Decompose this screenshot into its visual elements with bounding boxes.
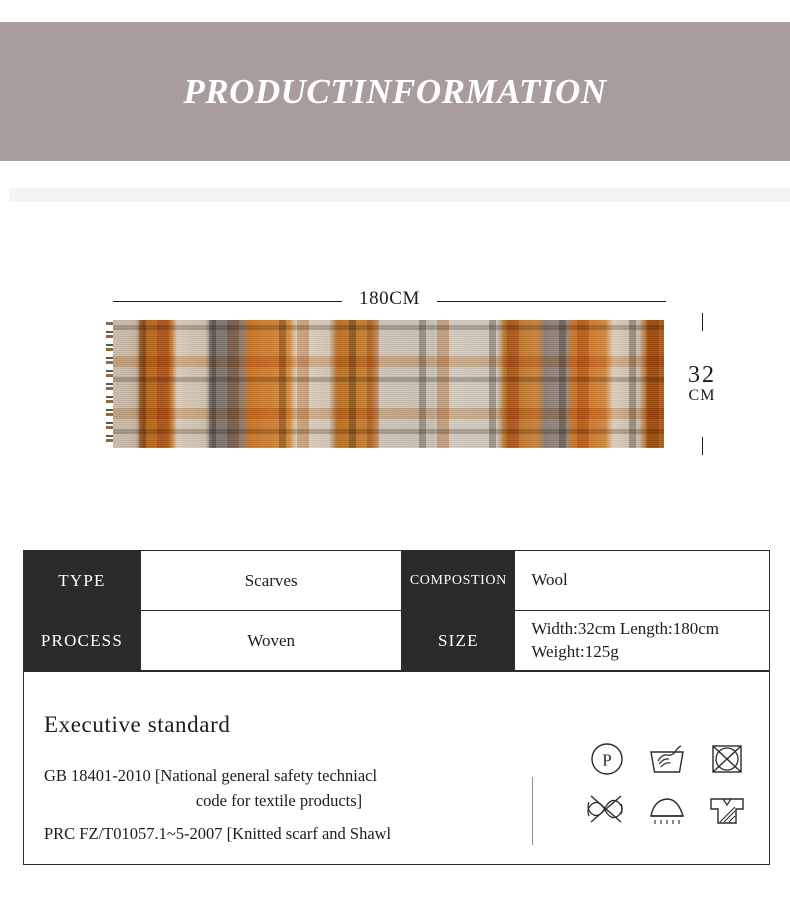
executive-standard-title: Executive standard <box>44 712 230 738</box>
height-tick-top <box>702 313 703 331</box>
width-line-right <box>437 301 666 302</box>
standard-prc-text: PRC FZ/T01057.1~5-2007 [Knitted scarf an… <box>44 824 534 844</box>
height-unit: CM <box>689 388 716 405</box>
cell-process-value: Woven <box>140 611 401 671</box>
size-dimensions-text: Width:32cm Length:180cm <box>531 619 719 638</box>
table-row: TYPE Scarves COMPOSTION Wool <box>24 551 770 611</box>
cell-composition-label: COMPOSTION <box>402 551 515 611</box>
scarf-texture-overlay <box>113 320 664 448</box>
do-not-tumble-dry-icon <box>707 739 747 779</box>
page-title: PRODUCTINFORMATION <box>183 72 606 112</box>
cell-type-value: Scarves <box>140 551 401 611</box>
size-weight-text: Weight:125g <box>531 642 618 661</box>
width-line-left <box>113 301 342 302</box>
scarf-product-image <box>113 320 664 448</box>
specification-table: TYPE Scarves COMPOSTION Wool PROCESS Wov… <box>23 550 770 671</box>
height-label-group: 32 CM <box>688 331 716 437</box>
iron-icon <box>644 790 690 828</box>
do-not-wring-icon <box>584 792 630 826</box>
dry-in-shade-icon <box>705 790 749 828</box>
height-value: 32 <box>688 363 716 388</box>
standard-gb-text: GB 18401-2010 [National general safety t… <box>44 764 514 814</box>
hand-wash-icon <box>645 739 689 779</box>
height-dimension: 32 CM <box>672 313 732 455</box>
cell-process-label: PROCESS <box>24 611 141 671</box>
cell-composition-value: Wool <box>515 551 770 611</box>
width-dimension: 180CM <box>113 288 666 314</box>
cell-size-label: SIZE <box>402 611 515 671</box>
dry-clean-p-icon: P <box>587 739 627 779</box>
header-divider-strip <box>9 188 790 202</box>
cell-size-value: Width:32cm Length:180cm Weight:125g <box>515 611 770 671</box>
height-tick-bottom <box>702 437 703 455</box>
standard-gb-line2: code for textile products] <box>44 789 514 814</box>
care-symbols-divider <box>532 777 533 845</box>
cell-type-label: TYPE <box>24 551 141 611</box>
product-image-section: 180CM 32 CM <box>0 275 790 475</box>
executive-standard-box: Executive standard GB 18401-2010 [Nation… <box>23 671 770 865</box>
standard-gb-line1: GB 18401-2010 [National general safety t… <box>44 766 377 785</box>
table-row: PROCESS Woven SIZE Width:32cm Length:180… <box>24 611 770 671</box>
page-header-banner: PRODUCTINFORMATION <box>0 22 790 161</box>
width-label: 180CM <box>342 288 437 310</box>
care-symbols-group: P <box>577 734 757 834</box>
svg-text:P: P <box>602 751 611 770</box>
